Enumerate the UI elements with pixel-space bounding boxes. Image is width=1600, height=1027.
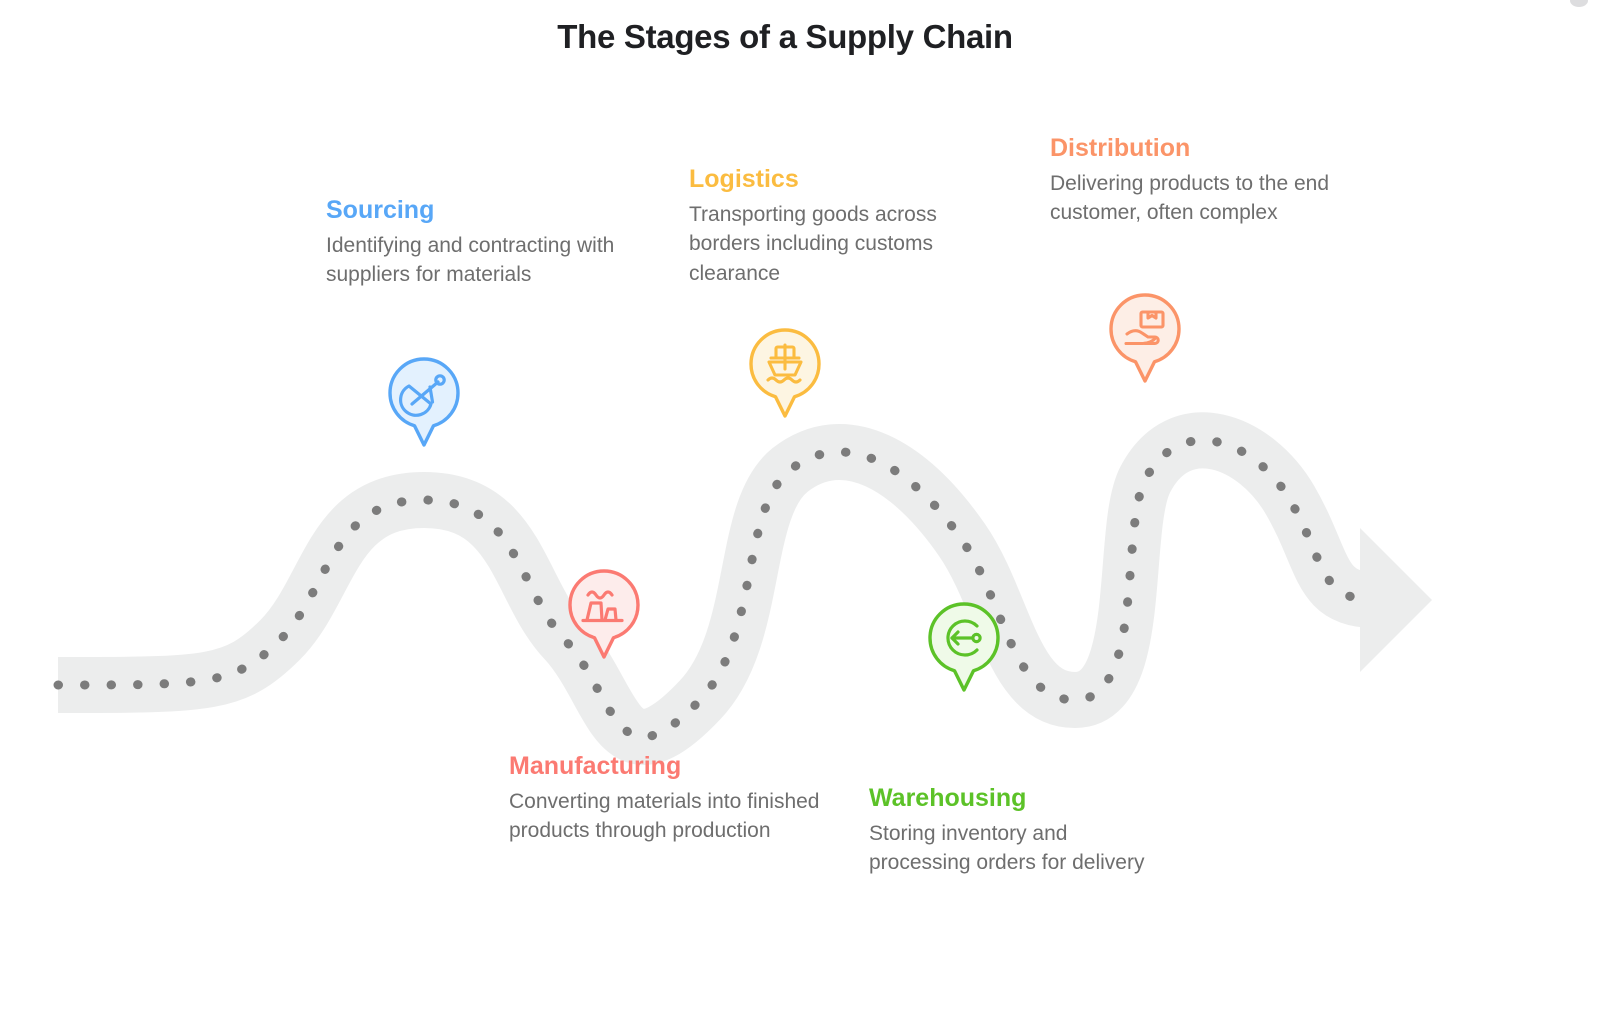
stage-heading-warehousing: Warehousing bbox=[869, 784, 1169, 814]
stage-pin-warehousing[interactable] bbox=[926, 601, 1002, 693]
stage-block-logistics: Logistics Transporting goods across bord… bbox=[689, 165, 1009, 289]
pin-shape bbox=[751, 330, 819, 416]
stage-pin-manufacturing[interactable] bbox=[566, 568, 642, 660]
stage-block-warehousing: Warehousing Storing inventory and proces… bbox=[869, 784, 1169, 878]
stage-description-logistics: Transporting goods across borders includ… bbox=[689, 200, 1009, 289]
stage-heading-manufacturing: Manufacturing bbox=[509, 752, 839, 782]
stage-description-manufacturing: Converting materials into finished produ… bbox=[509, 787, 839, 847]
pin-shape bbox=[1111, 295, 1179, 381]
stage-block-distribution: Distribution Delivering products to the … bbox=[1050, 134, 1370, 228]
stage-description-warehousing: Storing inventory and processing orders … bbox=[869, 819, 1169, 879]
pin-shape bbox=[930, 604, 998, 690]
stage-description-sourcing: Identifying and contracting with supplie… bbox=[326, 231, 626, 291]
stage-description-distribution: Delivering products to the end customer,… bbox=[1050, 169, 1370, 229]
stage-pin-logistics[interactable] bbox=[747, 327, 823, 419]
stage-block-sourcing: Sourcing Identifying and contracting wit… bbox=[326, 196, 626, 290]
stage-block-manufacturing: Manufacturing Converting materials into … bbox=[509, 752, 839, 846]
flow-ribbon-band bbox=[58, 440, 1375, 737]
stage-pin-sourcing[interactable] bbox=[386, 356, 462, 448]
pin-shape bbox=[570, 571, 638, 657]
stage-heading-logistics: Logistics bbox=[689, 165, 1009, 195]
stage-heading-distribution: Distribution bbox=[1050, 134, 1370, 164]
stage-heading-sourcing: Sourcing bbox=[326, 196, 626, 226]
stage-pin-distribution[interactable] bbox=[1107, 292, 1183, 384]
